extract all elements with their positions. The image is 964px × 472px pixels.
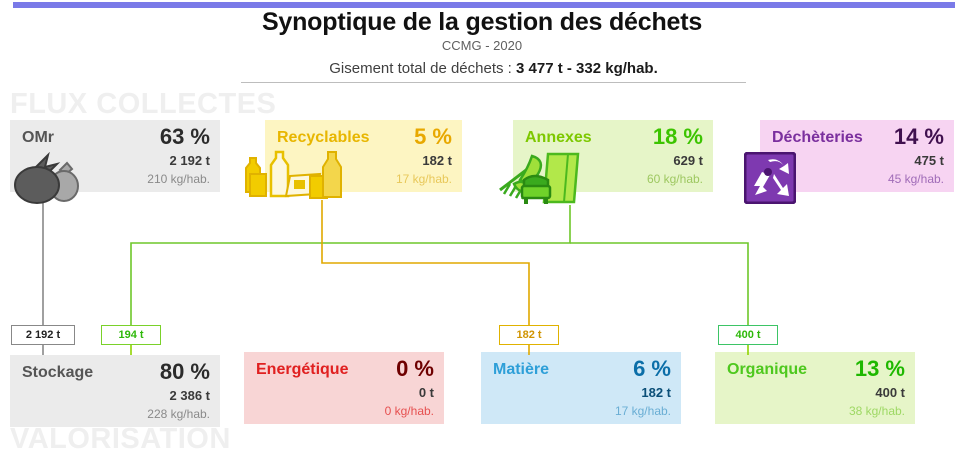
valorisation-box-stockage[interactable]: Stockage 80 % 2 386 t 228 kg/hab. [10, 355, 220, 427]
flux-box-annexes-tons: 629 t [673, 153, 703, 168]
valorisation-box-matiere-tons: 182 t [641, 385, 671, 400]
connector-label-annexes-to-stockage: 194 t [101, 325, 161, 345]
total-waste-prefix: Gisement total de déchets : [329, 60, 516, 77]
valorisation-box-energetique-label: Energétique [256, 361, 348, 379]
total-waste-line: Gisement total de déchets : 3 477 t - 33… [241, 60, 746, 83]
synoptic-diagram: Synoptique de la gestion des déchets CCM… [0, 0, 964, 472]
bottles-packaging-icon [242, 148, 346, 208]
valorisation-box-matiere-percent: 6 % [633, 356, 671, 382]
garbage-bags-icon [8, 152, 90, 209]
valorisation-box-matiere-per-capita: 17 kg/hab. [615, 404, 671, 418]
flux-box-omr-percent: 63 % [160, 124, 210, 150]
recycling-center-icon [744, 152, 796, 209]
flux-box-omr-tons: 2 192 t [170, 153, 210, 168]
page-subtitle: CCMG - 2020 [0, 38, 964, 53]
connector-label-recyclables-to-matiere: 182 t [499, 325, 559, 345]
flux-box-recyclables-per-capita: 17 kg/hab. [396, 172, 452, 186]
flux-box-dechetteries-tons: 475 t [914, 153, 944, 168]
valorisation-box-energetique-percent: 0 % [396, 356, 434, 382]
valorisation-box-stockage-tons: 2 386 t [170, 388, 210, 403]
flux-box-annexes-percent: 18 % [653, 124, 703, 150]
section-label-valorisation: VALORISATION [10, 423, 231, 456]
flux-box-dechetteries-label: Déchèteries [772, 129, 863, 147]
valorisation-box-organique[interactable]: Organique 13 % 400 t 38 kg/hab. [715, 352, 915, 424]
section-label-flux-collectes: FLUX COLLECTES [10, 88, 276, 121]
valorisation-box-organique-label: Organique [727, 361, 807, 379]
flux-box-recyclables-tons: 182 t [422, 153, 452, 168]
valorisation-box-energetique-tons: 0 t [419, 385, 434, 400]
valorisation-box-energetique[interactable]: Energétique 0 % 0 t 0 kg/hab. [244, 352, 444, 424]
valorisation-box-organique-per-capita: 38 kg/hab. [849, 404, 905, 418]
valorisation-box-organique-percent: 13 % [855, 356, 905, 382]
flux-box-dechetteries-per-capita: 45 kg/hab. [888, 172, 944, 186]
valorisation-box-stockage-label: Stockage [22, 364, 93, 382]
valorisation-box-matiere[interactable]: Matière 6 % 182 t 17 kg/hab. [481, 352, 681, 424]
valorisation-box-energetique-per-capita: 0 kg/hab. [385, 404, 434, 418]
flux-box-dechetteries-percent: 14 % [894, 124, 944, 150]
valorisation-box-matiere-label: Matière [493, 361, 549, 379]
flux-box-annexes-per-capita: 60 kg/hab. [647, 172, 703, 186]
flux-box-annexes-label: Annexes [525, 129, 592, 147]
green-waste-furniture-icon [490, 150, 590, 211]
total-waste-value: 3 477 t - 332 kg/hab. [516, 60, 658, 77]
valorisation-box-stockage-percent: 80 % [160, 359, 210, 385]
valorisation-box-stockage-per-capita: 228 kg/hab. [147, 407, 210, 421]
flux-box-omr-per-capita: 210 kg/hab. [147, 172, 210, 186]
connector-label-omr-to-stockage: 2 192 t [11, 325, 75, 345]
flux-box-recyclables-label: Recyclables [277, 129, 370, 147]
valorisation-box-organique-tons: 400 t [875, 385, 905, 400]
flux-box-recyclables-percent: 5 % [414, 124, 452, 150]
flux-box-omr-label: OMr [22, 129, 54, 147]
page-title: Synoptique de la gestion des déchets [0, 8, 964, 37]
connector-label-annexes-to-organique: 400 t [718, 325, 778, 345]
